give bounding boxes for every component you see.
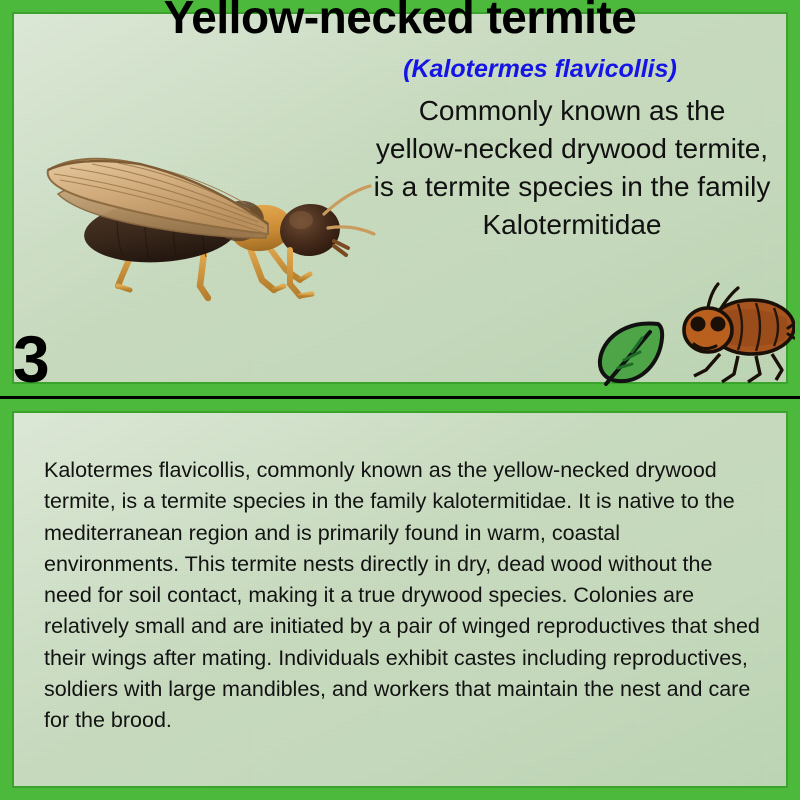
description-text: Kalotermes flavicollis, commonly known a…: [44, 455, 760, 737]
page-title: Yellow-necked termite: [0, 0, 800, 40]
scientific-name: (Kalotermes flavicollis): [320, 56, 760, 84]
bottom-panel-inner: Kalotermes flavicollis, commonly known a…: [12, 411, 788, 788]
winged-termite-photo: [18, 108, 388, 308]
top-panel: Yellow-necked termite (Kalotermes flavic…: [0, 0, 800, 396]
cockroach-icon: [660, 282, 795, 390]
bottom-panel: Kalotermes flavicollis, commonly known a…: [0, 399, 800, 800]
species-info-card: Yellow-necked termite (Kalotermes flavic…: [0, 0, 800, 800]
summary-text: Commonly known as the yellow-necked dryw…: [372, 92, 772, 244]
card-index-number: 3: [13, 326, 50, 392]
